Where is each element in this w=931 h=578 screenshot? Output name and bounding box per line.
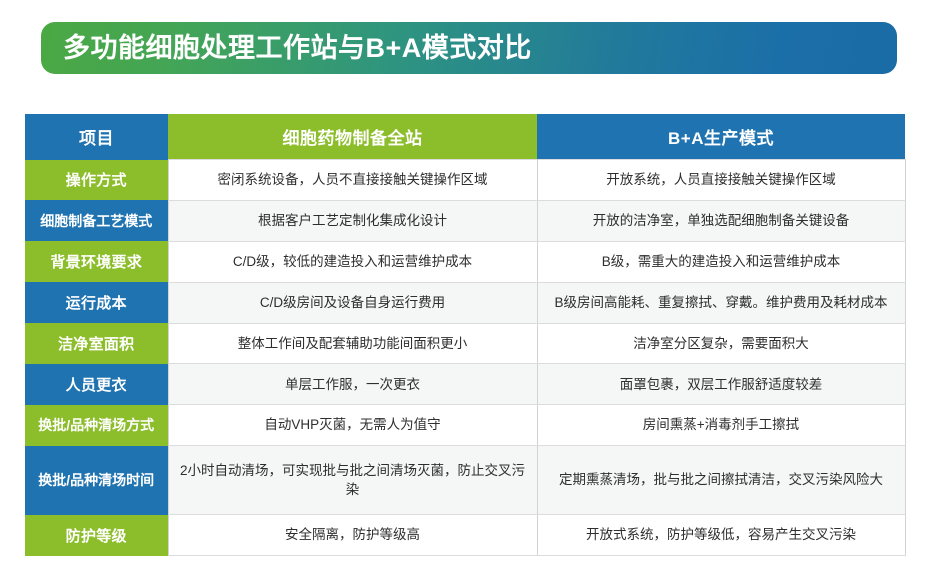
page-title: 多功能细胞处理工作站与B+A模式对比 — [63, 35, 532, 62]
row-label: 背景环境要求 — [25, 241, 168, 282]
cell-col-b: 房间熏蒸+消毒剂手工擦拭 — [537, 405, 905, 446]
cell-col-a: C/D级，较低的建造投入和运营维护成本 — [168, 241, 537, 282]
table-row: 防护等级安全隔离，防护等级高开放式系统，防护等级低，容易产生交叉污染 — [25, 515, 905, 556]
column-header-item: 项目 — [25, 114, 168, 160]
cell-col-a: 整体工作间及配套辅助功能间面积更小 — [168, 323, 537, 364]
cell-col-b: 开放式系统，防护等级低，容易产生交叉污染 — [537, 515, 905, 556]
cell-col-a: 根据客户工艺定制化集成化设计 — [168, 200, 537, 241]
table-row: 细胞制备工艺模式根据客户工艺定制化集成化设计开放的洁净室，单独选配细胞制备关键设… — [25, 200, 905, 241]
comparison-infographic: 多功能细胞处理工作站与B+A模式对比 项目 细胞药物制备全站 B+A生产模式 操… — [0, 0, 931, 578]
table-row: 运行成本C/D级房间及设备自身运行费用B级房间高能耗、重复擦拭、穿戴。维护费用及… — [25, 282, 905, 323]
column-header-col-b: B+A生产模式 — [537, 114, 905, 160]
row-label: 防护等级 — [25, 515, 168, 556]
banner: 多功能细胞处理工作站与B+A模式对比 — [41, 22, 897, 74]
cell-col-b: 开放的洁净室，单独选配细胞制备关键设备 — [537, 200, 905, 241]
comparison-table-wrapper: 项目 细胞药物制备全站 B+A生产模式 操作方式密闭系统设备，人员不直接接触关键… — [25, 114, 905, 556]
cell-col-a: 单层工作服，一次更衣 — [168, 364, 537, 405]
table-row: 换批/品种清场方式自动VHP灭菌，无需人为值守房间熏蒸+消毒剂手工擦拭 — [25, 405, 905, 446]
cell-col-a: 自动VHP灭菌，无需人为值守 — [168, 405, 537, 446]
table-row: 洁净室面积整体工作间及配套辅助功能间面积更小洁净室分区复杂，需要面积大 — [25, 323, 905, 364]
comparison-table: 项目 细胞药物制备全站 B+A生产模式 操作方式密闭系统设备，人员不直接接触关键… — [25, 114, 906, 556]
cell-col-b: B级，需重大的建造投入和运营维护成本 — [537, 241, 905, 282]
row-label: 换批/品种清场方式 — [25, 405, 168, 446]
row-label: 操作方式 — [25, 160, 168, 201]
cell-col-b: 开放系统，人员直接接触关键操作区域 — [537, 160, 905, 201]
table-row: 换批/品种清场时间2小时自动清场，可实现批与批之间清场灭菌，防止交叉污染定期熏蒸… — [25, 446, 905, 515]
table-row: 背景环境要求C/D级，较低的建造投入和运营维护成本B级，需重大的建造投入和运营维… — [25, 241, 905, 282]
row-label: 洁净室面积 — [25, 323, 168, 364]
row-label: 细胞制备工艺模式 — [25, 200, 168, 241]
table-row: 操作方式密闭系统设备，人员不直接接触关键操作区域开放系统，人员直接接触关键操作区… — [25, 160, 905, 201]
row-label: 换批/品种清场时间 — [25, 446, 168, 515]
cell-col-b: 定期熏蒸清场，批与批之间擦拭清洁，交叉污染风险大 — [537, 446, 905, 515]
table-body: 操作方式密闭系统设备，人员不直接接触关键操作区域开放系统，人员直接接触关键操作区… — [25, 160, 905, 556]
cell-col-b: 面罩包裹，双层工作服舒适度较差 — [537, 364, 905, 405]
row-label: 运行成本 — [25, 282, 168, 323]
cell-col-a: C/D级房间及设备自身运行费用 — [168, 282, 537, 323]
table-header-row: 项目 细胞药物制备全站 B+A生产模式 — [25, 114, 905, 160]
cell-col-a: 安全隔离，防护等级高 — [168, 515, 537, 556]
column-header-col-a: 细胞药物制备全站 — [168, 114, 537, 160]
row-label: 人员更衣 — [25, 364, 168, 405]
cell-col-a: 2小时自动清场，可实现批与批之间清场灭菌，防止交叉污染 — [168, 446, 537, 515]
table-row: 人员更衣单层工作服，一次更衣面罩包裹，双层工作服舒适度较差 — [25, 364, 905, 405]
cell-col-a: 密闭系统设备，人员不直接接触关键操作区域 — [168, 160, 537, 201]
cell-col-b: 洁净室分区复杂，需要面积大 — [537, 323, 905, 364]
cell-col-b: B级房间高能耗、重复擦拭、穿戴。维护费用及耗材成本 — [537, 282, 905, 323]
